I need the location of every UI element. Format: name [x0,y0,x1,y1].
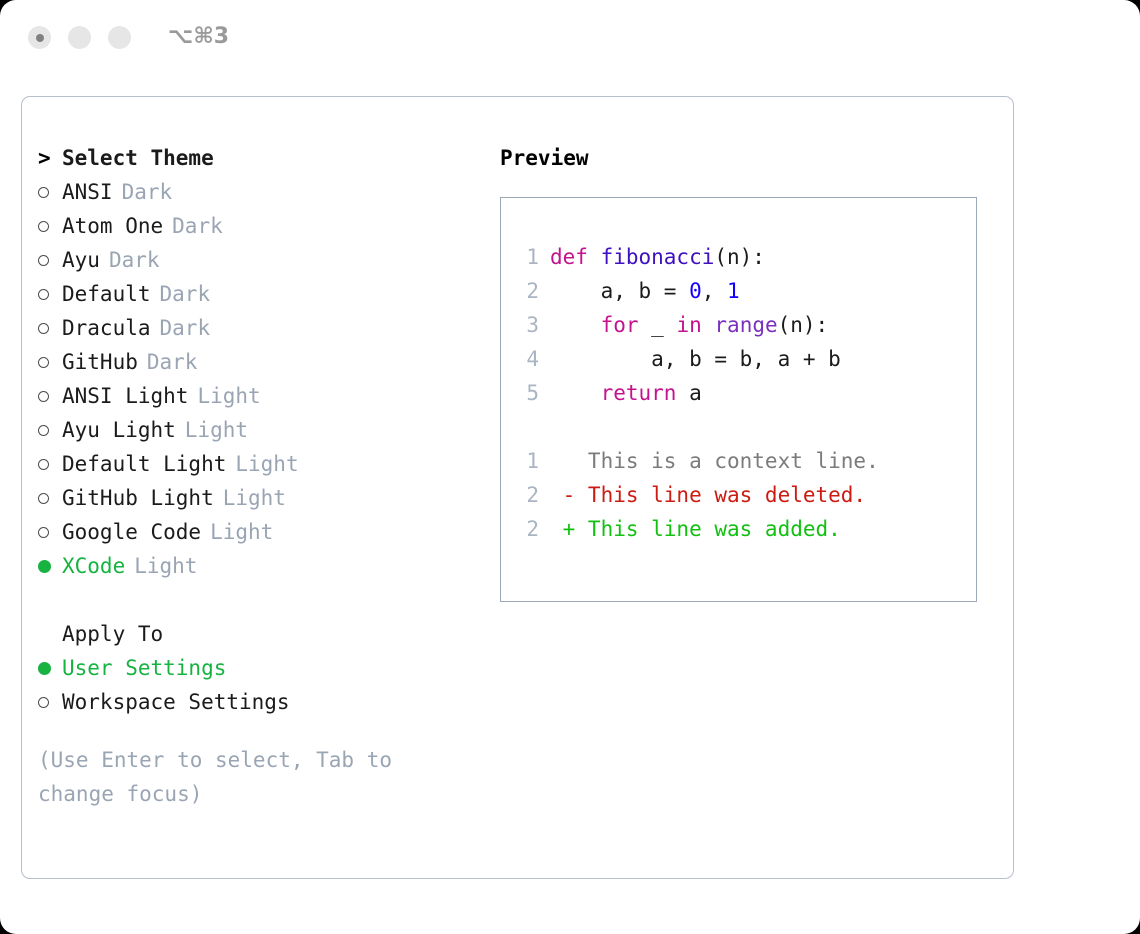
code-line: 5 return a [517,376,841,410]
diff-sample: 1 This is a context line.2 - This line w… [517,444,879,546]
code-token: a, b = b, a + b [550,347,841,371]
radio-bullet-icon [38,323,49,334]
theme-variant-badge: Dark [109,243,160,277]
theme-list-item[interactable]: AyuDark [38,243,488,277]
radio-selected-icon [38,549,62,583]
theme-variant-badge: Light [197,379,260,413]
line-number: 5 [517,376,539,410]
code-token: for [601,313,639,337]
radio-unselected-icon [38,277,62,311]
theme-name: Dracula [62,311,151,345]
section-spacer [38,583,488,617]
radio-unselected-icon [38,447,62,481]
theme-variant-badge: Dark [160,311,211,345]
radio-bullet-icon [38,255,49,266]
radio-bullet-icon [38,391,49,402]
line-number: 4 [517,342,539,376]
radio-bullet-icon [38,357,49,368]
apply-to-item[interactable]: Workspace Settings [38,685,488,719]
diff-text: - This line was deleted. [550,483,866,507]
radio-unselected-icon [38,175,62,209]
radio-unselected-icon [38,345,62,379]
theme-variant-badge: Light [223,481,286,515]
code-token: def [550,245,601,269]
theme-variant-badge: Dark [172,209,223,243]
code-sample: 1def fibonacci(n):2 a, b = 0, 13 for _ i… [517,240,841,410]
window-controls [28,26,131,49]
diff-line: 2 - This line was deleted. [517,478,879,512]
radio-bullet-icon [38,527,49,538]
theme-name: Ayu Light [62,413,176,447]
apply-to-list: User SettingsWorkspace Settings [38,651,488,719]
diff-text: This is a context line. [550,449,879,473]
line-number: 3 [517,308,539,342]
diff-text: + This line was added. [550,517,841,541]
code-token: (n): [714,245,765,269]
theme-variant-badge: Light [210,515,273,549]
theme-name: ANSI [62,175,113,209]
theme-list-item[interactable]: Atom OneDark [38,209,488,243]
radio-unselected-icon [38,311,62,345]
code-token [550,381,601,405]
theme-variant-badge: Dark [160,277,211,311]
code-token: 0 [689,279,702,303]
code-token: (n): [778,313,829,337]
code-token: in [676,313,701,337]
apply-to-label: User Settings [62,651,226,685]
line-number: 1 [517,240,539,274]
code-token [550,313,601,337]
theme-name: Default Light [62,447,226,481]
app-window: ⌥⌘3 >Select Theme ANSIDarkAtom OneDarkAy… [0,0,1140,934]
radio-bullet-icon [38,221,49,232]
radio-unselected-icon [38,243,62,277]
radio-unselected-icon [38,481,62,515]
radio-bullet-icon [38,187,49,198]
theme-name: GitHub Light [62,481,214,515]
theme-variant-badge: Light [134,549,197,583]
window-dot-active-icon[interactable] [28,26,51,49]
keyboard-shortcut-label: ⌥⌘3 [168,24,229,49]
theme-list-item[interactable]: Default LightLight [38,447,488,481]
radio-bullet-icon [38,697,49,708]
apply-to-item[interactable]: User Settings [38,651,488,685]
preview-box: 1def fibonacci(n):2 a, b = 0, 13 for _ i… [500,197,977,602]
theme-name: Google Code [62,515,201,549]
theme-name: Default [62,277,151,311]
line-number: 2 [517,274,539,308]
code-line: 2 a, b = 0, 1 [517,274,841,308]
theme-list-item[interactable]: Google CodeLight [38,515,488,549]
line-number: 2 [517,478,539,512]
line-number: 1 [517,444,539,478]
radio-bullet-icon [38,493,49,504]
code-token: range [714,313,777,337]
radio-unselected-icon [38,515,62,549]
theme-list-item[interactable]: ANSI LightLight [38,379,488,413]
preview-title: Preview [500,141,990,175]
select-theme-header: >Select Theme [38,141,488,175]
code-line: 1def fibonacci(n): [517,240,841,274]
theme-name: Atom One [62,209,163,243]
preview-column: Preview 1def fibonacci(n):2 a, b = 0, 13… [500,141,990,602]
theme-name: Ayu [62,243,100,277]
radio-unselected-icon [38,209,62,243]
code-token: a [676,381,701,405]
theme-list-item[interactable]: GitHub LightLight [38,481,488,515]
code-token: 1 [727,279,740,303]
theme-variant-badge: Dark [147,345,198,379]
theme-name: XCode [62,549,125,583]
window-dot-icon-2[interactable] [68,26,91,49]
code-token: fibonacci [601,245,715,269]
apply-to-header: Apply To [38,617,488,651]
radio-bullet-icon [38,459,49,470]
code-token [702,313,715,337]
theme-list-item[interactable]: ANSIDark [38,175,488,209]
code-token: return [601,381,677,405]
theme-list: ANSIDarkAtom OneDarkAyuDarkDefaultDarkDr… [38,175,488,583]
theme-variant-badge: Light [235,447,298,481]
radio-unselected-icon [38,413,62,447]
title-bar: ⌥⌘3 [0,0,1140,78]
theme-name: GitHub [62,345,138,379]
radio-bullet-icon [38,560,51,573]
theme-variant-badge: Dark [122,175,173,209]
diff-line: 2 + This line was added. [517,512,879,546]
radio-bullet-icon [38,289,49,300]
apply-to-label: Workspace Settings [62,685,290,719]
radio-bullet-icon [38,425,49,436]
code-token: a, b = [550,279,689,303]
keyboard-hint: (Use Enter to select, Tab to change focu… [38,743,438,811]
window-dot-icon-3[interactable] [108,26,131,49]
theme-selector-column: >Select Theme ANSIDarkAtom OneDarkAyuDar… [38,141,488,811]
code-token: _ [639,313,677,337]
theme-list-item[interactable]: DraculaDark [38,311,488,345]
radio-selected-icon [38,651,62,685]
theme-name: ANSI Light [62,379,188,413]
caret-icon: > [38,141,62,175]
theme-list-item[interactable]: DefaultDark [38,277,488,311]
code-line: 3 for _ in range(n): [517,308,841,342]
main-panel: >Select Theme ANSIDarkAtom OneDarkAyuDar… [21,96,1014,879]
radio-bullet-icon [38,662,51,675]
theme-variant-badge: Light [185,413,248,447]
theme-list-item[interactable]: Ayu LightLight [38,413,488,447]
theme-list-item[interactable]: GitHubDark [38,345,488,379]
diff-line: 1 This is a context line. [517,444,879,478]
theme-list-item[interactable]: XCodeLight [38,549,488,583]
line-number: 2 [517,512,539,546]
code-line: 4 a, b = b, a + b [517,342,841,376]
code-token: , [702,279,727,303]
radio-unselected-icon [38,379,62,413]
radio-unselected-icon [38,685,62,719]
